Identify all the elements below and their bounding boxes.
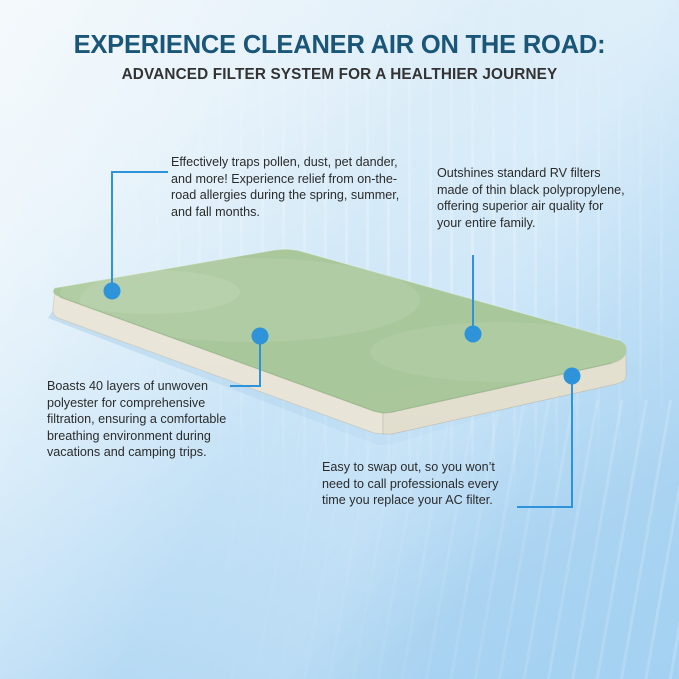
callout-dot-4 [564, 368, 581, 385]
product-illustration [0, 0, 679, 679]
callout-text-1: Effectively traps pollen, dust, pet dand… [171, 154, 407, 220]
callout-dots [104, 283, 581, 385]
callout-traps-allergens: Effectively traps pollen, dust, pet dand… [171, 154, 407, 220]
page-title: EXPERIENCE CLEANER AIR ON THE ROAD: [0, 30, 679, 60]
callout-dot-2 [465, 326, 482, 343]
leader-line-1 [112, 172, 167, 286]
callout-text-3: Boasts 40 layers of unwoven polyester fo… [47, 378, 243, 461]
callout-easy-to-swap-out: Easy to swap out, so you won’t need to c… [322, 459, 522, 509]
background-stripe-texture [0, 0, 679, 679]
callout-forty-layers-polyester: Boasts 40 layers of unwoven polyester fo… [47, 378, 243, 461]
callout-outshines-standard-filters: Outshines standard RV filters made of th… [437, 165, 627, 231]
infographic-canvas: EXPERIENCE CLEANER AIR ON THE ROAD: ADVA… [0, 0, 679, 679]
callout-dot-1 [104, 283, 121, 300]
callout-text-4: Easy to swap out, so you won’t need to c… [322, 459, 522, 509]
header: EXPERIENCE CLEANER AIR ON THE ROAD: ADVA… [0, 30, 679, 86]
page-subtitle: ADVANCED FILTER SYSTEM FOR A HEALTHIER J… [0, 64, 679, 86]
callout-dot-3 [252, 328, 269, 345]
callout-leaders [0, 0, 679, 679]
callout-text-2: Outshines standard RV filters made of th… [437, 165, 627, 231]
filter-edge-right [370, 345, 650, 455]
leader-line-4 [518, 382, 572, 507]
